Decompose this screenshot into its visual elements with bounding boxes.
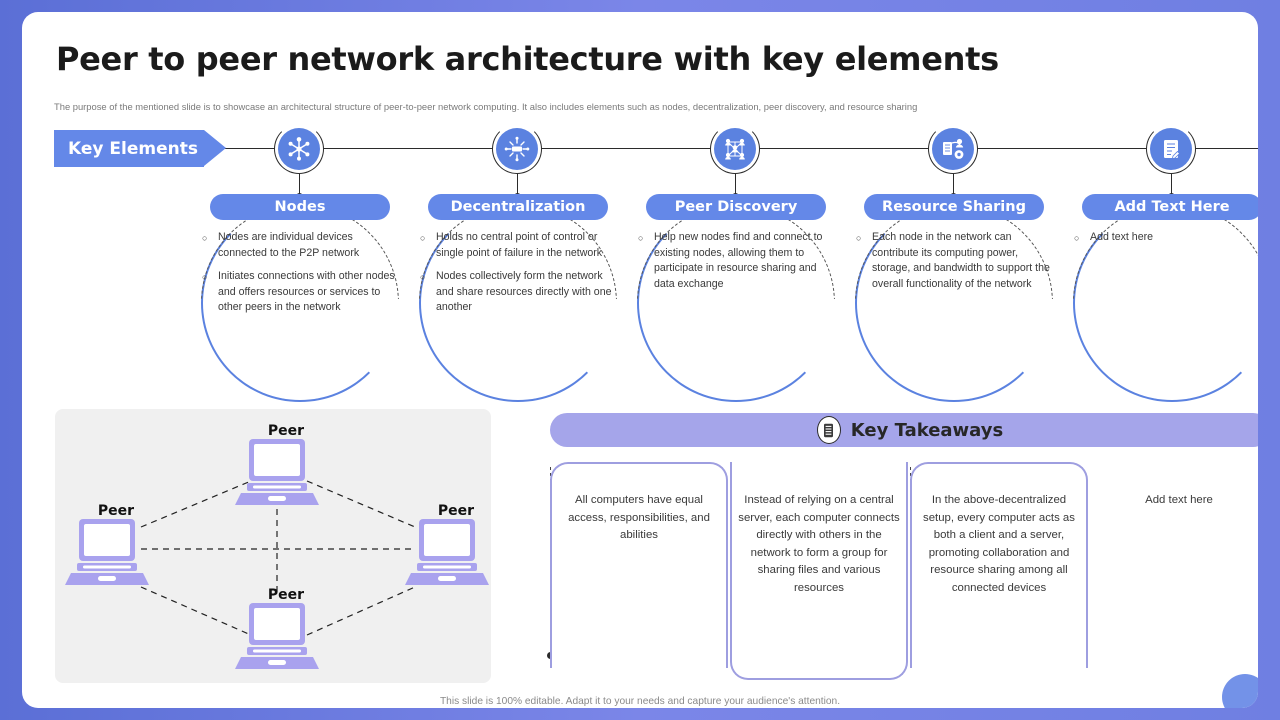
resource-sharing-gear-icon [932,128,974,170]
column-bullet-list: ○ Holds no central point of control or s… [420,230,616,324]
peer-label-right: Peer [426,503,486,519]
bullet-icon: ○ [856,230,872,292]
bullet-text: Initiates connections with other nodes a… [218,269,398,316]
timeline-node-4[interactable] [928,124,978,174]
bullet-icon: ○ [420,269,436,316]
peer-label-top: Peer [256,423,316,439]
column-title: Peer Discovery [646,194,826,220]
decentralization-hub-icon [496,128,538,170]
column-title: Decentralization [428,194,608,220]
bullet-icon: ○ [1074,230,1090,246]
key-takeaways-title: Key Takeaways [851,420,1003,441]
column-title: Add Text Here [1082,194,1258,220]
bullet-text: Nodes collectively form the network and … [436,269,616,316]
bullet-text: Nodes are individual devices connected t… [218,230,398,261]
list-item: ○ Holds no central point of control or s… [420,230,616,261]
list-item: ○ Add text here [1074,230,1258,246]
column-bullet-list: ○ Add text here [1074,230,1258,254]
footer-note: This slide is 100% editable. Adapt it to… [22,696,1258,707]
bullet-icon: ○ [202,269,218,316]
timeline-node-2[interactable] [492,124,542,174]
list-item: ○ Help new nodes find and connect to exi… [638,230,834,292]
network-nodes-icon [278,128,320,170]
key-elements-tag-arrow [204,130,226,166]
list-item: ○ Initiates connections with other nodes… [202,269,398,316]
peer-discovery-people-icon [714,128,756,170]
peer-laptop-top [235,439,319,505]
peer-laptop-left [65,519,149,585]
timeline-node-5[interactable] [1146,124,1196,174]
list-item: ○ Each node in the network can contribut… [856,230,1052,292]
column-bullet-list: ○ Each node in the network can contribut… [856,230,1052,300]
takeaway-text-2: Instead of relying on a central server, … [730,492,908,598]
bullet-text: Each node in the network can contribute … [872,230,1052,292]
column-title: Resource Sharing [864,194,1044,220]
p2p-network-diagram: Peer Peer Peer Peer [55,409,491,683]
column-bullet-list: ○ Nodes are individual devices connected… [202,230,398,324]
list-item: ○ Nodes are individual devices connected… [202,230,398,261]
bullet-text: Holds no central point of control or sin… [436,230,616,261]
column-title: Nodes [210,194,390,220]
timeline-node-1[interactable] [274,124,324,174]
peer-laptop-bottom [235,603,319,669]
slide-background: Peer to peer network architecture with k… [0,0,1280,720]
key-takeaways-bar: Key Takeaways [550,413,1258,447]
takeaway-text-3: In the above-decentralized setup, every … [910,492,1088,598]
slide-card: Peer to peer network architecture with k… [22,12,1258,708]
peer-label-bottom: Peer [256,587,316,603]
peer-label-left: Peer [86,503,146,519]
page-title: Peer to peer network architecture with k… [56,40,999,78]
bullet-icon: ○ [638,230,654,292]
key-elements-label: Key Elements [68,139,198,159]
key-elements-tag: Key Elements [54,130,204,167]
takeaway-text-1: All computers have equal access, respons… [550,492,728,545]
bullet-icon: ○ [420,230,436,261]
bullet-text: Help new nodes find and connect to exist… [654,230,834,292]
takeaway-text-4: Add text here [1090,492,1258,510]
page-subtitle: The purpose of the mentioned slide is to… [54,100,1214,113]
list-item: ○ Nodes collectively form the network an… [420,269,616,316]
bullet-icon: ○ [202,230,218,261]
peer-laptop-right [405,519,489,585]
column-bullet-list: ○ Help new nodes find and connect to exi… [638,230,834,300]
timeline-node-3[interactable] [710,124,760,174]
bullet-text: Add text here [1090,230,1258,246]
document-checklist-icon [1150,128,1192,170]
server-document-icon [817,416,841,444]
